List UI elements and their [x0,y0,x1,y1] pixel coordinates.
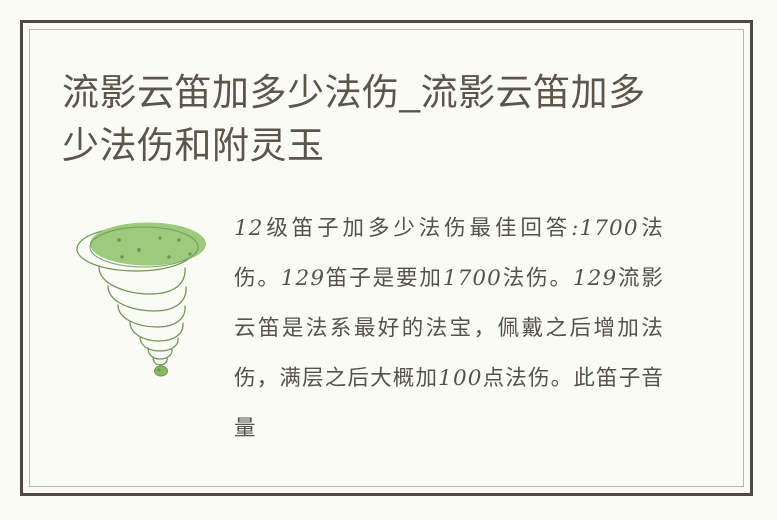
tornado-tip-dot [157,368,160,371]
page-root: 流影云笛加多少法伤_流影云笛加多少法伤和附灵玉 [0,0,777,520]
tornado-icon [64,210,228,386]
outer-border-frame: 流影云笛加多少法伤_流影云笛加多少法伤和附灵玉 [20,20,753,496]
tornado-tip-ball [155,366,168,376]
tornado-illustration [64,210,228,386]
page-title: 流影云笛加多少法伤_流影云笛加多少法伤和附灵玉 [62,66,662,172]
inner-border-frame: 流影云笛加多少法伤_流影云笛加多少法伤和附灵玉 [29,29,744,487]
tornado-spiral-bands [99,267,186,365]
article-body-block: 12级笛子加多少法伤最佳回答:1700法伤。129笛子是要加1700法伤。129… [30,204,743,484]
article-body-text: 12级笛子加多少法伤最佳回答:1700法伤。129笛子是要加1700法伤。129… [234,204,664,504]
tornado-cap-fill [90,223,206,266]
article-content: 流影云笛加多少法伤_流影云笛加多少法伤和附灵玉 [30,30,743,486]
